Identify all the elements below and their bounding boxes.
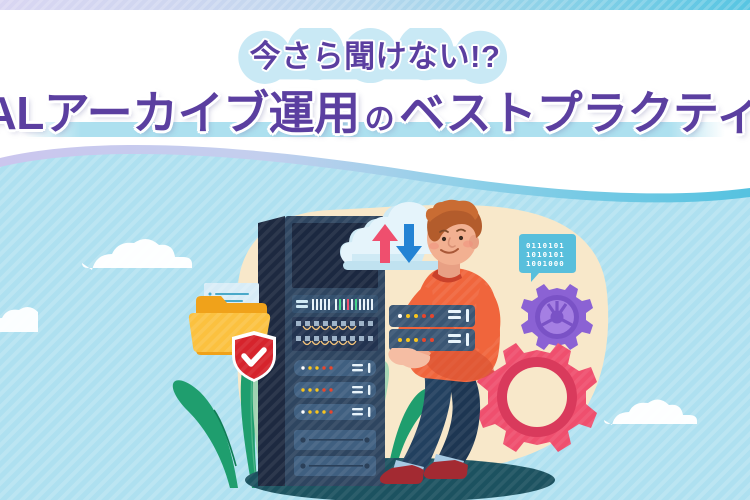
binary-line-3: 1001000 [526, 259, 565, 268]
carried-server-unit [389, 329, 475, 351]
binary-line-2: 1010101 [526, 250, 565, 259]
top-gradient-bar [0, 0, 750, 10]
illustration-artwork: 0110101 1010101 1001000 [0, 10, 750, 500]
carried-server-unit [389, 305, 475, 327]
banner-image: 0110101 1010101 1001000 [0, 0, 750, 500]
rack-patch-panel [292, 317, 378, 351]
rack-server-unit [294, 404, 376, 420]
rack-switch-panel [292, 295, 378, 313]
binary-line-1: 0110101 [526, 241, 565, 250]
rack-server-units [294, 360, 376, 420]
rack-server-unit [294, 382, 376, 398]
rack-server-unit [294, 360, 376, 376]
